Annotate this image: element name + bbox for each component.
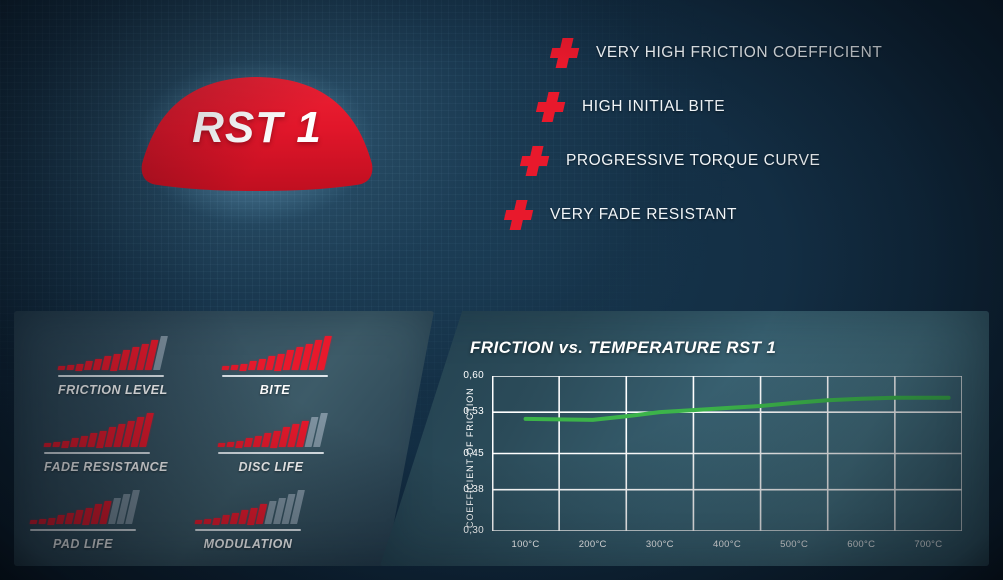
ratings-panel — [14, 311, 434, 566]
feature-item: VERY FADE RESISTANT — [500, 188, 1000, 242]
feature-item: VERY HIGH FRICTION COEFFICIENT — [500, 26, 1000, 80]
chart-y-tick-label: 0,53 — [450, 406, 484, 417]
chart-x-tick-label: 400°C — [697, 539, 757, 550]
plus-icon — [550, 36, 586, 70]
chart-title: FRICTION vs. TEMPERATURE RST 1 — [470, 338, 776, 358]
chart-y-tick-label: 0,38 — [450, 484, 484, 495]
badge-title: RST 1 — [132, 58, 382, 198]
feature-item: PROGRESSIVE TORQUE CURVE — [500, 134, 1000, 188]
plus-icon — [504, 198, 540, 232]
chart-y-tick-label: 0,60 — [450, 370, 484, 381]
chart-series-line — [526, 398, 949, 420]
chart-y-tick-label: 0,45 — [450, 448, 484, 459]
infographic-page: RST 1 VERY HIGH FRICTION COEFFICIENT HIG… — [0, 0, 1003, 580]
chart-x-tick-label: 100°C — [496, 539, 556, 550]
product-badge: RST 1 — [0, 0, 450, 300]
chart-x-tick-label: 700°C — [898, 539, 958, 550]
chart-x-tick-label: 300°C — [630, 539, 690, 550]
feature-list: VERY HIGH FRICTION COEFFICIENT HIGH INIT… — [500, 26, 1000, 242]
chart-x-tick-label: 500°C — [764, 539, 824, 550]
feature-label: VERY HIGH FRICTION COEFFICIENT — [596, 44, 882, 62]
chart-plot-area — [492, 376, 962, 531]
feature-label: HIGH INITIAL BITE — [582, 98, 725, 116]
chart-x-tick-label: 600°C — [831, 539, 891, 550]
feature-item: HIGH INITIAL BITE — [500, 80, 1000, 134]
feature-label: VERY FADE RESISTANT — [550, 206, 737, 224]
feature-label: PROGRESSIVE TORQUE CURVE — [566, 152, 820, 170]
chart-x-tick-label: 200°C — [563, 539, 623, 550]
plus-icon — [520, 144, 556, 178]
chart-y-tick-label: 0,30 — [450, 525, 484, 536]
plus-icon — [536, 90, 572, 124]
